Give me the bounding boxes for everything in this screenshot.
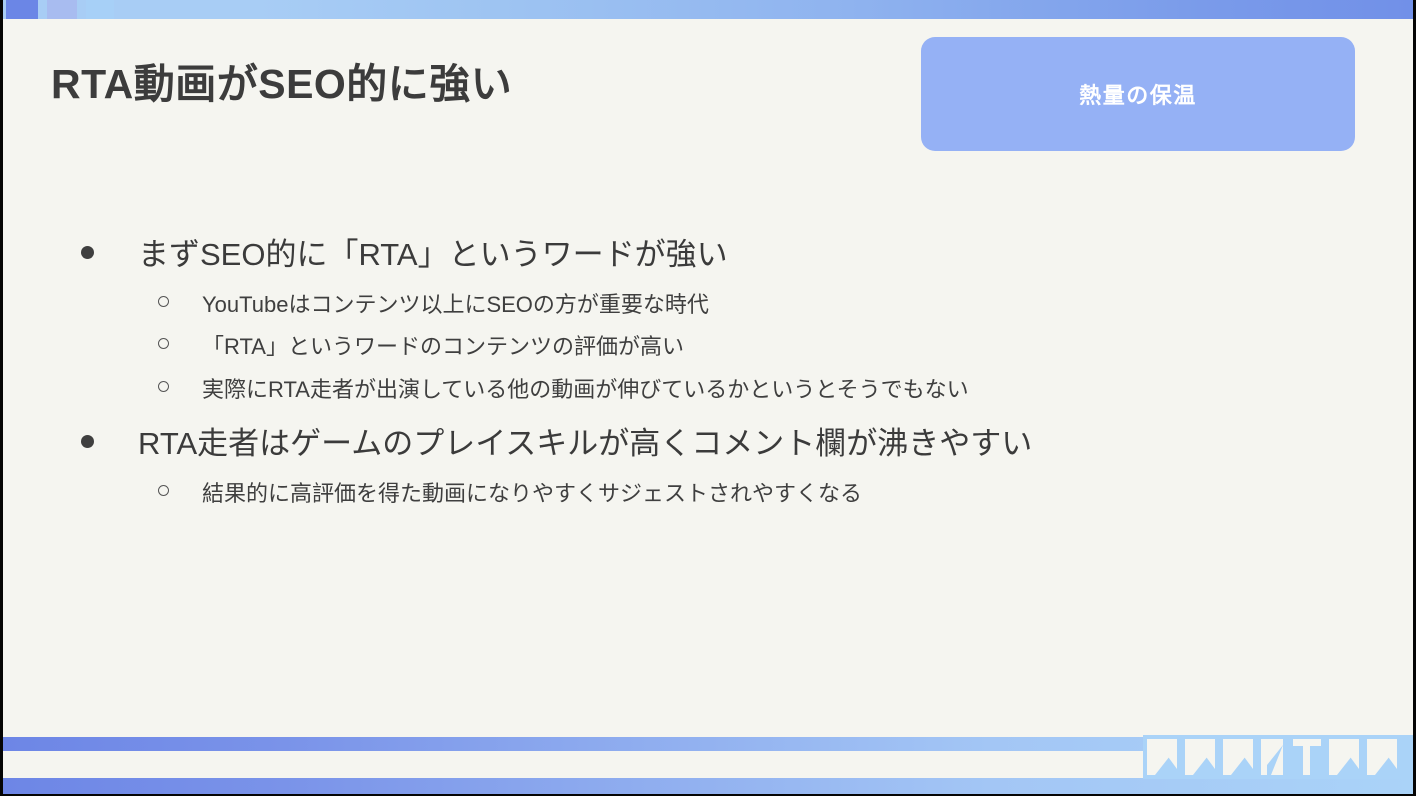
- top-block-3: [86, 0, 114, 19]
- list-item: 実際にRTA走者が出演している他の動画が伸びているかというとそうでもない: [3, 376, 1413, 404]
- presentation-slide: RTA動画がSEO的に強い 熱量の保温 まずSEO的に「RTA」というワードが強…: [0, 0, 1416, 796]
- list-item-label: YouTubeはコンテンツ以上にSEOの方が重要な時代: [202, 291, 709, 319]
- filled-circle-icon: [81, 435, 94, 448]
- hollow-circle-icon: [158, 485, 169, 496]
- list-item-label: 結果的に高評価を得た動画になりやすくサジェストされやすくなる: [202, 480, 862, 508]
- hollow-circle-icon: [158, 338, 169, 349]
- list-item: 結果的に高評価を得た動画になりやすくサジェストされやすくなる: [3, 480, 1413, 508]
- bullet-list: まずSEO的に「RTA」というワードが強い YouTubeはコンテンツ以上にSE…: [3, 236, 1413, 523]
- top-block-2: [47, 0, 77, 19]
- list-item-label: まずSEO的に「RTA」というワードが強い: [138, 236, 728, 275]
- list-item: まずSEO的に「RTA」というワードが強い: [3, 236, 1413, 275]
- hollow-circle-icon: [158, 296, 169, 307]
- list-item-label: 実際にRTA走者が出演している他の動画が伸びているかというとそうでもない: [202, 376, 969, 404]
- list-item: YouTubeはコンテンツ以上にSEOの方が重要な時代: [3, 291, 1413, 319]
- hollow-circle-icon: [158, 381, 169, 392]
- list-item-label: 「RTA」というワードのコンテンツの評価が高い: [202, 333, 684, 361]
- top-block-4: [122, 0, 233, 19]
- top-accent-strip: [3, 0, 1413, 19]
- list-item: 「RTA」というワードのコンテンツの評価が高い: [3, 333, 1413, 361]
- section-badge: 熱量の保温: [921, 37, 1355, 151]
- list-item-label: RTA走者はゲームのプレイスキルが高くコメント欄が沸きやすい: [138, 425, 1032, 464]
- list-item: RTA走者はゲームのプレイスキルが高くコメント欄が沸きやすい: [3, 425, 1413, 464]
- brand-logo-icon: [1143, 735, 1413, 779]
- section-badge-label: 熱量の保温: [1079, 78, 1197, 110]
- top-block-1: [6, 0, 38, 19]
- filled-circle-icon: [81, 246, 94, 259]
- slide-title: RTA動画がSEO的に強い: [51, 50, 512, 110]
- top-strip-blocks: [3, 0, 233, 19]
